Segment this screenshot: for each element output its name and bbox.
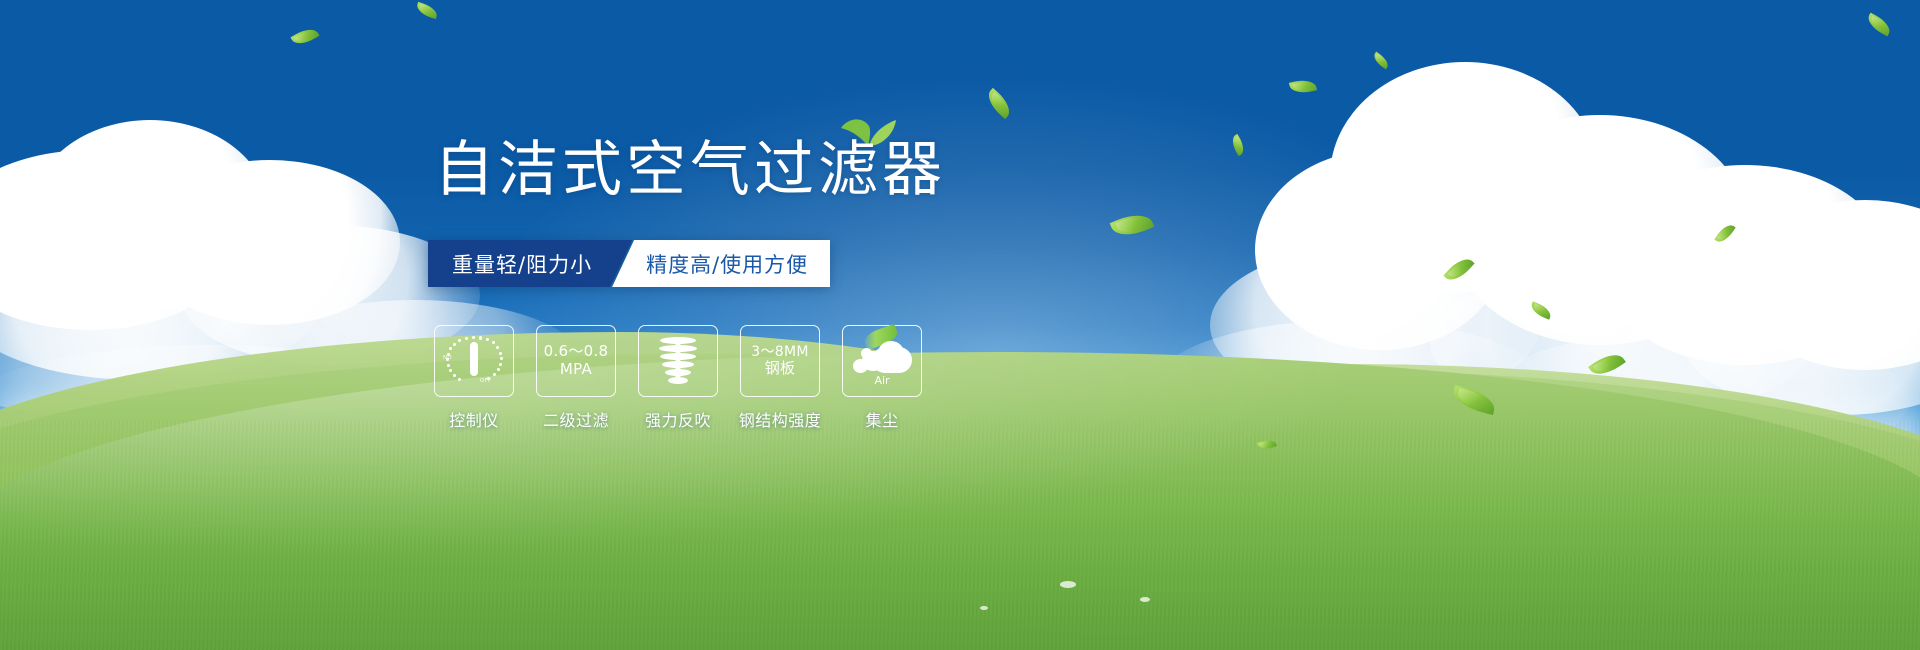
gauge-icon: NO OFF	[444, 333, 504, 389]
hero-banner: 自洁式空气过滤器 重量轻/阻力小 精度高/使用方便	[0, 0, 1920, 650]
banner-content: 自洁式空气过滤器 重量轻/阻力小 精度高/使用方便	[0, 0, 1920, 650]
badge-precision-ease: 精度高/使用方便	[612, 240, 830, 287]
gauge-label-no: NO	[443, 355, 452, 361]
feature-box	[638, 325, 718, 397]
feature-item-two-stage-filter: 0.6～0.8 MPA 二级过滤	[536, 325, 616, 431]
feature-caption: 钢结构强度	[739, 407, 822, 431]
coil-filter-icon	[656, 336, 700, 386]
feature-box: Air	[842, 325, 922, 397]
feature-item-controller: NO OFF 控制仪	[434, 325, 514, 431]
feature-item-strong-backblow: 强力反吹	[638, 325, 718, 431]
feature-item-steel-strength: 3～8MM 钢板 钢结构强度	[740, 325, 820, 431]
feature-caption: 集尘	[865, 407, 898, 431]
page-title: 自洁式空气过滤器	[434, 140, 946, 200]
feature-caption: 二级过滤	[543, 407, 609, 431]
gauge-label-off: OFF	[480, 378, 491, 384]
badge-weight-resistance: 重量轻/阻力小	[428, 240, 632, 287]
feature-box: NO OFF	[434, 325, 514, 397]
feature-box: 0.6～0.8 MPA	[536, 325, 616, 397]
feature-caption: 强力反吹	[645, 407, 711, 431]
steel-thickness-text: 3～8MM	[751, 344, 808, 361]
air-cloud-icon	[852, 335, 912, 377]
feature-item-dust-collection: Air 集尘	[842, 325, 922, 431]
pressure-range-text: 0.6～0.8	[544, 343, 609, 361]
feature-caption: 控制仪	[449, 407, 499, 431]
badge-group: 重量轻/阻力小 精度高/使用方便	[428, 240, 830, 287]
steel-plate-text: 钢板	[765, 360, 796, 378]
feature-icon-row: NO OFF 控制仪 0.6～0.8 MPA 二级过滤	[434, 325, 922, 431]
feature-box: 3～8MM 钢板	[740, 325, 820, 397]
pressure-unit-text: MPA	[560, 361, 592, 379]
